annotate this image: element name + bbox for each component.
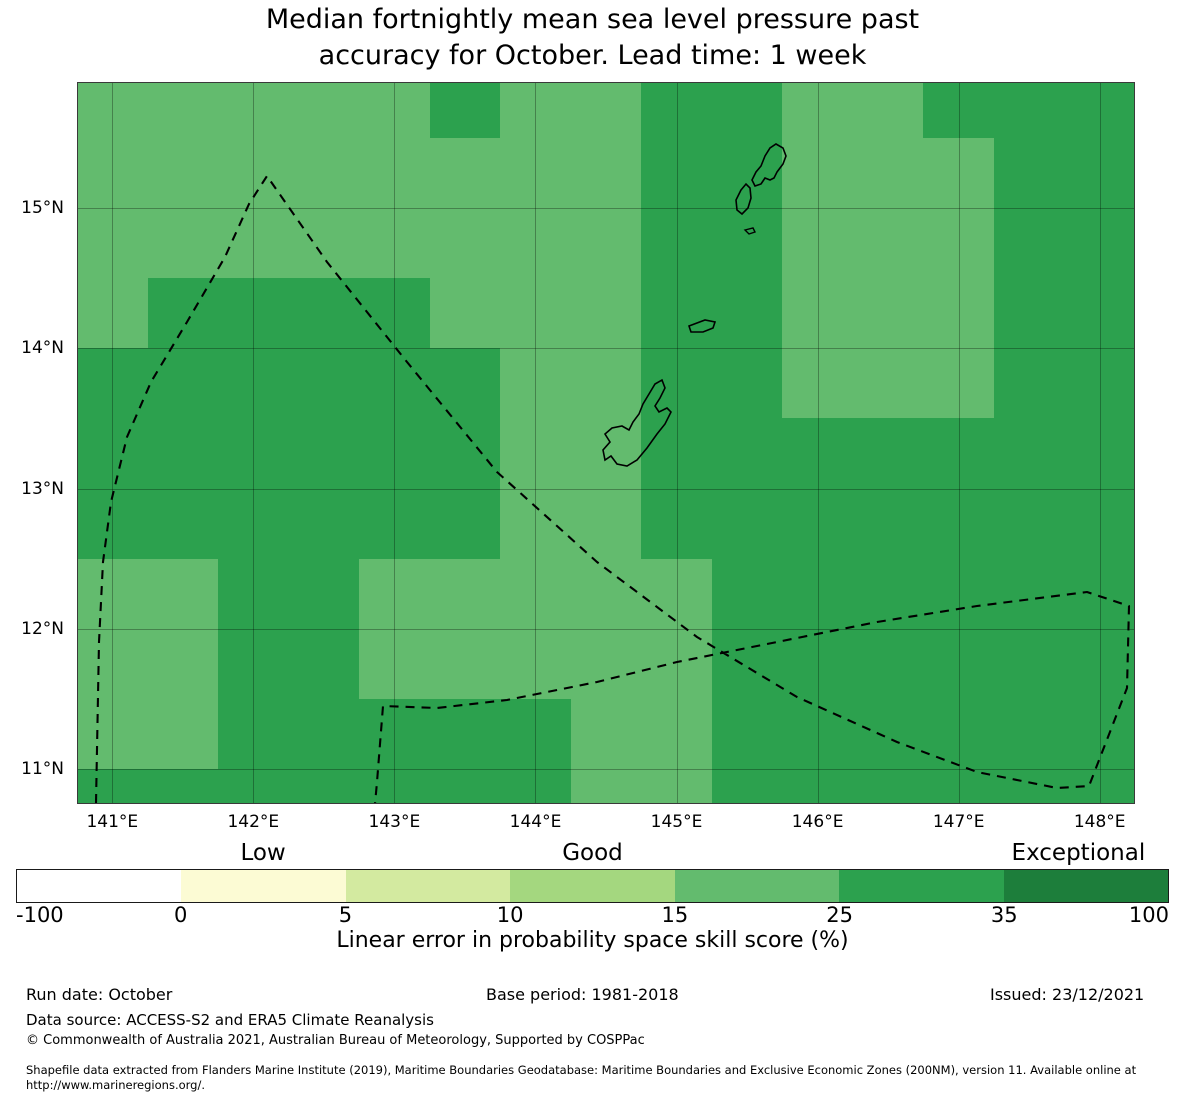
base-period: Base period: 1981-2018 <box>486 985 679 1004</box>
heatmap-cell <box>359 82 430 138</box>
heatmap-cell <box>923 82 994 138</box>
heatmap-cell <box>500 418 571 488</box>
x-axis-tick-label: 143°E <box>369 812 421 832</box>
heatmap-cell <box>218 82 289 138</box>
heatmap-cell <box>782 208 853 278</box>
heatmap-cell <box>782 489 853 559</box>
colorbar-segment[interactable] <box>346 870 510 902</box>
heatmap-cell <box>994 82 1065 138</box>
heatmap-cell <box>500 348 571 418</box>
heatmap-cell <box>1064 138 1135 208</box>
heatmap-cell <box>77 278 148 348</box>
heatmap-cell <box>712 278 783 348</box>
colorbar-segment[interactable] <box>181 870 345 902</box>
heatmap-cell <box>641 699 712 769</box>
heatmap-cell <box>853 208 924 278</box>
heatmap-cell <box>923 278 994 348</box>
heatmap-cell <box>148 138 219 208</box>
y-axis-tick-label: 14°N <box>21 338 64 358</box>
heatmap-cell <box>571 629 642 699</box>
heatmap-cell <box>148 348 219 418</box>
heatmap-cell <box>571 208 642 278</box>
heatmap-cell <box>148 82 219 138</box>
heatmap-cell <box>712 559 783 629</box>
heatmap-cell <box>359 629 430 699</box>
heatmap-cell <box>782 138 853 208</box>
heatmap-cell <box>712 208 783 278</box>
heatmap-cell <box>1064 629 1135 699</box>
heatmap-cell <box>1064 82 1135 138</box>
colorbar-segment[interactable] <box>675 870 839 902</box>
heatmap-cell <box>289 699 360 769</box>
page-title: Median fortnightly mean sea level pressu… <box>0 2 1185 74</box>
heatmap-cell <box>359 208 430 278</box>
heatmap-cell <box>641 278 712 348</box>
heatmap-cell <box>1064 418 1135 488</box>
heatmap-cell <box>571 559 642 629</box>
colorbar-tick-label: 35 <box>991 903 1018 927</box>
heatmap-cell <box>712 769 783 804</box>
x-axis-tick-label: 146°E <box>792 812 844 832</box>
heatmap-cell <box>218 208 289 278</box>
heatmap-cell <box>994 769 1065 804</box>
heatmap-cell <box>500 138 571 208</box>
heatmap-cell <box>853 418 924 488</box>
heatmap-cell <box>359 489 430 559</box>
footer: Run date: October Base period: 1981-2018… <box>0 985 1185 1009</box>
heatmap-cell <box>218 418 289 488</box>
heatmap-cell <box>218 769 289 804</box>
heatmap-cell <box>782 769 853 804</box>
heatmap-cell <box>500 559 571 629</box>
heatmap-cell <box>571 418 642 488</box>
heatmap-cell <box>500 699 571 769</box>
heatmap-cell <box>641 559 712 629</box>
title-line-2: accuracy for October. Lead time: 1 week <box>0 38 1185 74</box>
heatmap-cell <box>77 629 148 699</box>
colorbar-category-labels: LowGoodExceptional <box>0 840 1185 868</box>
heatmap-cell <box>923 769 994 804</box>
heatmap-cell <box>148 489 219 559</box>
heatmap-cell <box>289 208 360 278</box>
issued-date: Issued: 23/12/2021 <box>990 985 1144 1004</box>
heatmap-cell <box>571 82 642 138</box>
heatmap-cell <box>994 629 1065 699</box>
heatmap-cell <box>853 138 924 208</box>
heatmap-cell <box>712 418 783 488</box>
heatmap-cell <box>430 348 501 418</box>
heatmap-cell <box>782 348 853 418</box>
heatmap-cell <box>500 629 571 699</box>
heatmap-cell <box>1064 559 1135 629</box>
heatmap-cell <box>712 348 783 418</box>
heatmap-cell <box>853 559 924 629</box>
heatmap-cell <box>218 138 289 208</box>
heatmap-cell <box>1064 278 1135 348</box>
heatmap-cell <box>430 559 501 629</box>
heatmap-cell <box>853 629 924 699</box>
heatmap-cell <box>289 629 360 699</box>
colorbar-segment[interactable] <box>839 870 1003 902</box>
heatmap-cell <box>77 348 148 418</box>
heatmap-cell <box>500 769 571 804</box>
heatmap-cell <box>641 348 712 418</box>
y-axis-tick-label: 13°N <box>21 479 64 499</box>
heatmap-cell <box>77 82 148 138</box>
heatmap-cell-grid <box>77 82 1135 804</box>
heatmap-cell <box>782 559 853 629</box>
heatmap-cell <box>359 418 430 488</box>
colorbar-axis-label: Linear error in probability space skill … <box>0 928 1185 953</box>
heatmap-cell <box>712 489 783 559</box>
heatmap-cell <box>994 348 1065 418</box>
colorbar-tick-label: 5 <box>339 903 352 927</box>
run-date: Run date: October <box>26 985 172 1004</box>
colorbar-tick-labels: -1000510152535100 <box>0 903 1185 929</box>
heatmap-cell <box>1064 769 1135 804</box>
heatmap-cell <box>77 769 148 804</box>
heatmap-cell <box>641 208 712 278</box>
map-plot-area[interactable] <box>77 82 1135 804</box>
heatmap-cell <box>359 699 430 769</box>
heatmap-cell <box>359 138 430 208</box>
heatmap-cell <box>571 489 642 559</box>
heatmap-cell <box>782 699 853 769</box>
heatmap-cell <box>782 629 853 699</box>
heatmap-cell <box>359 559 430 629</box>
colorbar-category-label: Good <box>562 840 623 866</box>
heatmap-cell <box>77 699 148 769</box>
heatmap-cell <box>923 348 994 418</box>
heatmap-cell <box>1064 489 1135 559</box>
heatmap-cell <box>853 699 924 769</box>
heatmap-cell <box>289 418 360 488</box>
heatmap-cell <box>289 348 360 418</box>
heatmap-cell <box>853 82 924 138</box>
heatmap-cell <box>77 559 148 629</box>
colorbar-tick-label: 0 <box>174 903 187 927</box>
x-axis-tick-label: 141°E <box>86 812 138 832</box>
heatmap-cell <box>289 489 360 559</box>
heatmap-cell <box>77 208 148 278</box>
heatmap-cell <box>571 699 642 769</box>
heatmap-cell <box>500 489 571 559</box>
heatmap-cell <box>994 418 1065 488</box>
y-axis-tick-label: 11°N <box>21 759 64 779</box>
heatmap-cell <box>289 82 360 138</box>
heatmap-cell <box>77 489 148 559</box>
heatmap-cell <box>430 629 501 699</box>
heatmap-cell <box>289 138 360 208</box>
heatmap-cell <box>994 699 1065 769</box>
colorbar-tick-label: -100 <box>16 903 64 927</box>
heatmap-cell <box>994 559 1065 629</box>
heatmap-cell <box>359 769 430 804</box>
shapefile-note: Shapefile data extracted from Flanders M… <box>26 1063 1174 1093</box>
heatmap-cell <box>641 418 712 488</box>
heatmap-cell <box>430 208 501 278</box>
x-axis-tick-label: 145°E <box>651 812 703 832</box>
heatmap-cell <box>77 418 148 488</box>
heatmap-cell <box>923 138 994 208</box>
heatmap-canvas <box>77 82 1135 804</box>
heatmap-cell <box>571 348 642 418</box>
title-line-1: Median fortnightly mean sea level pressu… <box>266 4 919 35</box>
heatmap-cell <box>641 769 712 804</box>
heatmap-cell <box>430 769 501 804</box>
heatmap-cell <box>218 489 289 559</box>
heatmap-cell <box>641 138 712 208</box>
heatmap-cell <box>430 278 501 348</box>
y-axis-tick-labels: 15°N14°N13°N12°N11°N <box>0 82 70 804</box>
x-axis-tick-label: 147°E <box>933 812 985 832</box>
heatmap-cell <box>430 699 501 769</box>
heatmap-cell <box>923 559 994 629</box>
heatmap-cell <box>359 348 430 418</box>
heatmap-cell <box>430 489 501 559</box>
y-axis-tick-label: 12°N <box>21 619 64 639</box>
heatmap-cell <box>218 559 289 629</box>
colorbar-segment[interactable] <box>510 870 674 902</box>
heatmap-cell <box>994 489 1065 559</box>
heatmap-cell <box>712 699 783 769</box>
x-axis-tick-label: 142°E <box>227 812 279 832</box>
x-axis-tick-labels: 141°E142°E143°E144°E145°E146°E147°E148°E <box>0 812 1185 838</box>
heatmap-cell <box>571 138 642 208</box>
heatmap-cell <box>148 208 219 278</box>
heatmap-cell <box>289 559 360 629</box>
heatmap-cell <box>1064 208 1135 278</box>
heatmap-cell <box>1064 699 1135 769</box>
data-source: Data source: ACCESS-S2 and ERA5 Climate … <box>26 1011 434 1029</box>
heatmap-cell <box>641 489 712 559</box>
heatmap-cell <box>218 629 289 699</box>
heatmap-cell <box>77 138 148 208</box>
heatmap-cell <box>923 699 994 769</box>
heatmap-cell <box>1064 348 1135 418</box>
heatmap-cell <box>148 769 219 804</box>
heatmap-cell <box>782 278 853 348</box>
heatmap-cell <box>641 82 712 138</box>
colorbar-segment[interactable] <box>17 870 181 902</box>
heatmap-cell <box>500 278 571 348</box>
heatmap-cell <box>994 278 1065 348</box>
copyright-notice: © Commonwealth of Australia 2021, Austra… <box>26 1033 645 1048</box>
heatmap-cell <box>148 629 219 699</box>
heatmap-cell <box>218 699 289 769</box>
heatmap-cell <box>994 138 1065 208</box>
colorbar-category-label: Exceptional <box>1012 840 1146 866</box>
heatmap-cell <box>289 278 360 348</box>
heatmap-cell <box>712 82 783 138</box>
heatmap-cell <box>571 278 642 348</box>
colorbar-tick-label: 100 <box>1129 903 1169 927</box>
heatmap-cell <box>430 138 501 208</box>
heatmap-cell <box>923 489 994 559</box>
colorbar-tick-label: 15 <box>662 903 689 927</box>
heatmap-cell <box>218 348 289 418</box>
heatmap-cell <box>853 489 924 559</box>
heatmap-cell <box>500 82 571 138</box>
colorbar[interactable] <box>16 869 1169 903</box>
heatmap-cell <box>148 559 219 629</box>
heatmap-cell <box>148 418 219 488</box>
heatmap-cell <box>148 699 219 769</box>
x-axis-tick-label: 148°E <box>1074 812 1126 832</box>
heatmap-cell <box>923 418 994 488</box>
heatmap-cell <box>641 629 712 699</box>
heatmap-cell <box>218 278 289 348</box>
heatmap-cell <box>853 769 924 804</box>
heatmap-cell <box>430 418 501 488</box>
heatmap-cell <box>923 208 994 278</box>
heatmap-cell <box>289 769 360 804</box>
heatmap-cell <box>782 82 853 138</box>
heatmap-cell <box>500 208 571 278</box>
heatmap-cell <box>853 278 924 348</box>
heatmap-cell <box>782 418 853 488</box>
heatmap-cell <box>712 138 783 208</box>
heatmap-cell <box>853 348 924 418</box>
x-axis-tick-label: 144°E <box>510 812 562 832</box>
colorbar-tick-label: 10 <box>497 903 524 927</box>
heatmap-cell <box>148 278 219 348</box>
heatmap-cell <box>571 769 642 804</box>
heatmap-cell <box>994 208 1065 278</box>
colorbar-segment[interactable] <box>1004 870 1168 902</box>
heatmap-cell <box>430 82 501 138</box>
heatmap-cell <box>712 629 783 699</box>
y-axis-tick-label: 15°N <box>21 198 64 218</box>
colorbar-tick-label: 25 <box>826 903 853 927</box>
colorbar-category-label: Low <box>240 840 285 866</box>
heatmap-cell <box>359 278 430 348</box>
heatmap-cell <box>923 629 994 699</box>
